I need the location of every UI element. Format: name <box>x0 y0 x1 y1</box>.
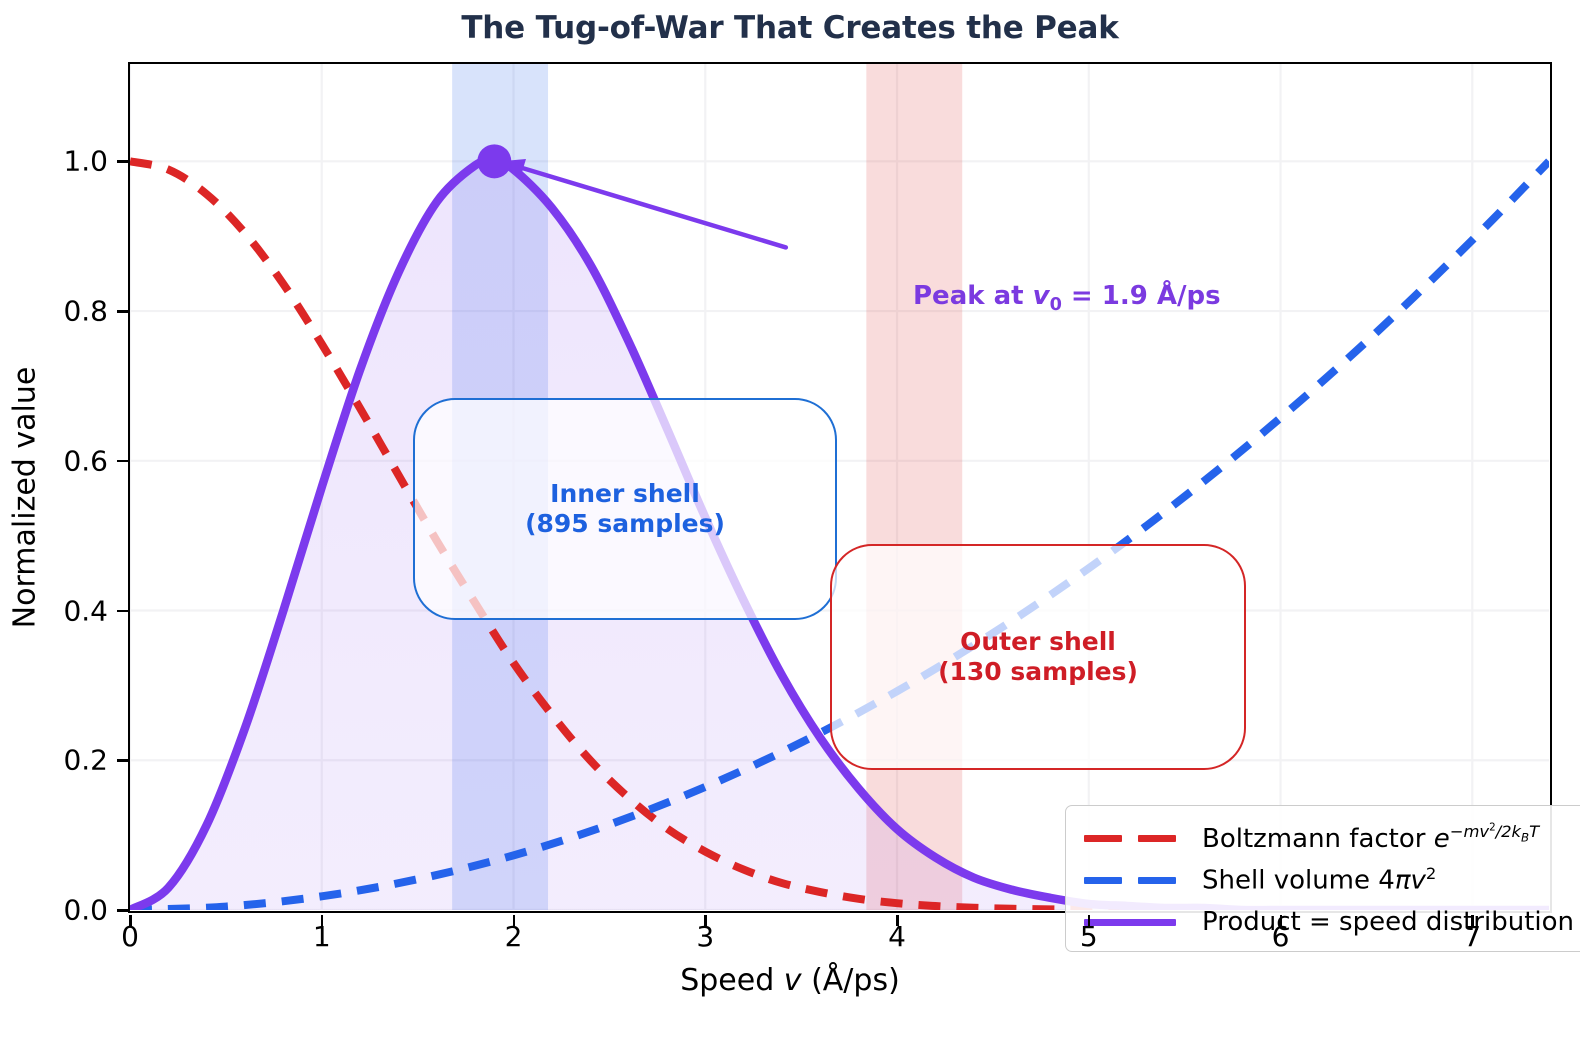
plot-canvas <box>130 64 1550 911</box>
legend-label-boltzmann: Boltzmann factor e−mv2/2kBT <box>1202 822 1539 854</box>
legend-item-shell-volume: Shell volume 4πv2 <box>1084 860 1580 900</box>
y-tick-mark <box>117 909 128 912</box>
outer-shell-line2: (130 samples) <box>938 657 1138 688</box>
legend-swatch-boltzmann <box>1084 835 1180 842</box>
chart-svg <box>130 64 1549 910</box>
x-tick-mark <box>1471 915 1474 926</box>
legend-item-product: Product = speed distribution f(v) <box>1084 902 1580 942</box>
y-tick-0.0: 0.0 <box>0 894 108 927</box>
x-tick-mark <box>1280 915 1283 926</box>
plot-area: Inner shell (895 samples) Outer shell (1… <box>128 62 1552 913</box>
y-tick-mark <box>117 610 128 613</box>
outer-shell-annotation-box: Outer shell (130 samples) <box>830 544 1246 770</box>
x-tick-mark <box>513 915 516 926</box>
outer-shell-line1: Outer shell <box>960 627 1116 658</box>
peak-annotation-label: Peak at v0 = 1.9 Å/ps <box>913 281 1221 315</box>
y-axis-label: Normalized value <box>8 118 43 878</box>
legend-swatch-product <box>1084 919 1180 926</box>
x-axis-label: Speed v (Å/ps) <box>0 963 1580 998</box>
peak-subscript: 0 <box>1050 295 1062 315</box>
x-tick-mark <box>1088 915 1091 926</box>
inner-shell-annotation-box: Inner shell (895 samples) <box>413 398 837 620</box>
inner-shell-line1: Inner shell <box>550 479 700 510</box>
peak-suffix: = 1.9 Å/ps <box>1062 281 1221 311</box>
legend-label-shell-volume: Shell volume 4πv2 <box>1202 864 1436 896</box>
chart-figure: The Tug-of-War That Creates the Peak Inn… <box>0 0 1580 1037</box>
x-tick-mark <box>704 915 707 926</box>
inner-shell-line2: (895 samples) <box>525 509 725 540</box>
y-tick-mark <box>117 310 128 313</box>
y-tick-mark <box>117 460 128 463</box>
legend-label-product: Product = speed distribution f(v) <box>1202 907 1580 937</box>
peak-prefix: Peak at <box>913 281 1033 311</box>
x-tick-mark <box>129 915 132 926</box>
xlabel-suffix: (Å/ps) <box>802 963 900 998</box>
legend-swatch-shell-volume <box>1084 877 1180 884</box>
legend-item-boltzmann: Boltzmann factor e−mv2/2kBT <box>1084 818 1580 858</box>
y-tick-mark <box>117 160 128 163</box>
xlabel-prefix: Speed <box>680 963 784 998</box>
x-tick-mark <box>321 915 324 926</box>
page-title: The Tug-of-War That Creates the Peak <box>0 10 1580 46</box>
x-tick-mark <box>896 915 899 926</box>
peak-variable: v <box>1033 281 1050 311</box>
chart-legend: Boltzmann factor e−mv2/2kBT Shell volume… <box>1065 805 1580 952</box>
xlabel-variable: v <box>784 963 802 998</box>
y-tick-mark <box>117 759 128 762</box>
